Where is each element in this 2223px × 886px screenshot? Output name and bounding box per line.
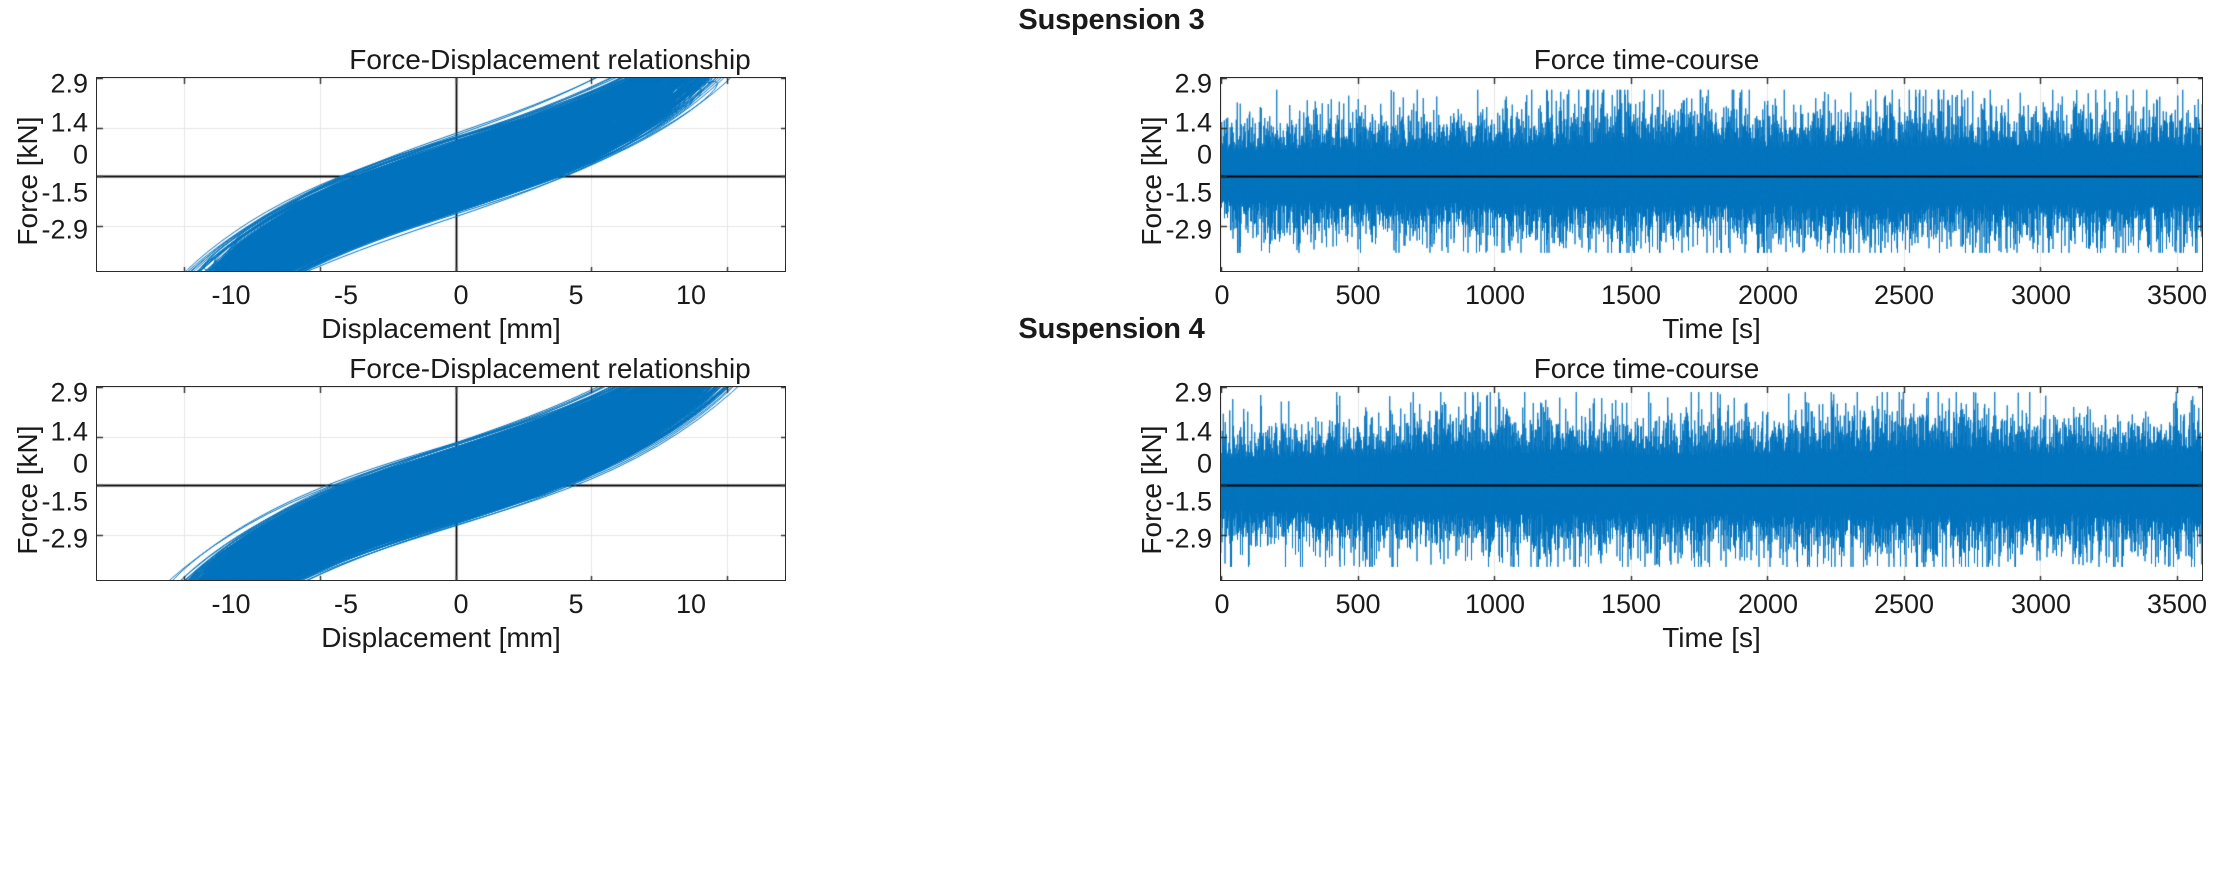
xtick-time-0: 0 (1214, 589, 1229, 620)
xtick-disp-m10: -10 (211, 589, 250, 620)
ytick-force-m2: -2.9 (22, 215, 88, 246)
ytick-force-2: 2.9 (1154, 378, 1212, 409)
xtick-time-3000: 3000 (2011, 589, 2071, 620)
xtick-disp-5: 5 (568, 280, 583, 311)
xtick-time-2000: 2000 (1738, 589, 1798, 620)
xtick-time-2500: 2500 (1874, 280, 1934, 311)
ytick-force-m1: -1.5 (22, 487, 88, 518)
panel-susp4-force-timecourse: Force time-course Force [kN] 2.9 1.4 0 -… (1120, 349, 2223, 614)
panel-susp3-force-displacement: Force-Displacement relationship Force [k… (0, 40, 1120, 305)
axis-label-time: Time [s] (1220, 622, 2203, 654)
xtick-disp-0: 0 (453, 589, 468, 620)
xtick-time-3500: 3500 (2147, 280, 2207, 311)
ytick-force-m1: -1.5 (22, 178, 88, 209)
axis-label-displacement: Displacement [mm] (96, 622, 786, 654)
ytick-force-1: 1.4 (30, 417, 88, 448)
ytick-force-2: 2.9 (30, 69, 88, 100)
xtick-time-0: 0 (1214, 280, 1229, 311)
ytick-force-1: 1.4 (1154, 108, 1212, 139)
ytick-force-1: 1.4 (30, 108, 88, 139)
xtick-time-1500: 1500 (1601, 280, 1661, 311)
panel-susp3-force-timecourse: Force time-course Force [kN] 2.9 1.4 0 -… (1120, 40, 2223, 305)
xtick-disp-0: 0 (453, 280, 468, 311)
panel-title-force-timecourse: Force time-course (1095, 44, 2198, 76)
axes-susp3-force-timecourse (1220, 77, 2203, 272)
xtick-disp-m10: -10 (211, 280, 250, 311)
panel-title-force-timecourse: Force time-course (1095, 353, 2198, 385)
xtick-time-500: 500 (1335, 589, 1380, 620)
panel-susp4-force-displacement: Force-Displacement relationship Force [k… (0, 349, 1120, 614)
ytick-force-1: 1.4 (1154, 417, 1212, 448)
xtick-time-2000: 2000 (1738, 280, 1798, 311)
xtick-disp-5: 5 (568, 589, 583, 620)
ytick-force-m2: -2.9 (1146, 215, 1212, 246)
xtick-time-1000: 1000 (1465, 589, 1525, 620)
axes-susp3-force-displacement (96, 77, 786, 272)
ytick-force-2: 2.9 (30, 378, 88, 409)
ytick-force-0: 0 (30, 140, 88, 171)
ytick-force-m2: -2.9 (22, 524, 88, 555)
ytick-force-0: 0 (1154, 449, 1212, 480)
ytick-force-0: 0 (1154, 140, 1212, 171)
xtick-time-1000: 1000 (1465, 280, 1525, 311)
axes-susp4-force-displacement (96, 386, 786, 581)
ytick-force-2: 2.9 (1154, 69, 1212, 100)
xtick-disp-10: 10 (676, 280, 706, 311)
xtick-time-2500: 2500 (1874, 589, 1934, 620)
panel-title-force-displacement: Force-Displacement relationship (0, 44, 1110, 76)
matlab-figure: Suspension 3 Force-Displacement relation… (0, 0, 2223, 886)
ytick-force-m2: -2.9 (1146, 524, 1212, 555)
xtick-disp-10: 10 (676, 589, 706, 620)
xtick-time-3000: 3000 (2011, 280, 2071, 311)
ytick-force-m1: -1.5 (1146, 178, 1212, 209)
ytick-force-m1: -1.5 (1146, 487, 1212, 518)
panel-title-force-displacement: Force-Displacement relationship (0, 353, 1110, 385)
xtick-time-500: 500 (1335, 280, 1380, 311)
section-title-suspension-4: Suspension 4 (0, 313, 2223, 346)
xtick-time-1500: 1500 (1601, 589, 1661, 620)
section-title-suspension-3: Suspension 3 (0, 4, 2223, 37)
axes-susp4-force-timecourse (1220, 386, 2203, 581)
xtick-disp-m5: -5 (334, 589, 358, 620)
xtick-disp-m5: -5 (334, 280, 358, 311)
xtick-time-3500: 3500 (2147, 589, 2207, 620)
ytick-force-0: 0 (30, 449, 88, 480)
